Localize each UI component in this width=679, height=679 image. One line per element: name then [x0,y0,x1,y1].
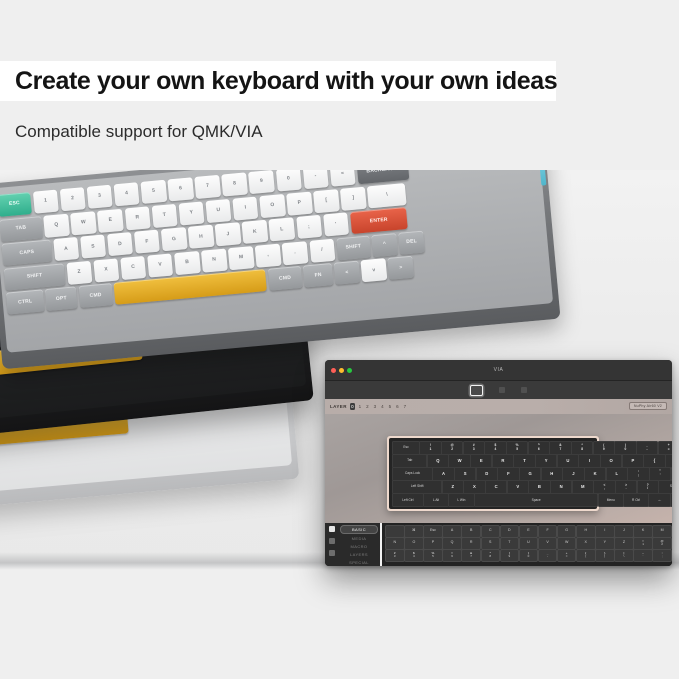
keycap: [ [313,189,339,213]
keycap: T [151,203,177,227]
keycode-key[interactable] [385,525,405,538]
minimize-button[interactable] [339,368,344,373]
keymap-key[interactable]: += [658,441,673,455]
keycode-key[interactable]: P [423,537,443,550]
keycodes-icon[interactable] [329,526,335,532]
keycap: < [334,261,360,285]
keycode-key[interactable]: K [633,525,653,538]
panel-rail-icons[interactable] [325,523,338,566]
keymap-key[interactable]: L Alt [423,493,449,507]
keycode-key[interactable]: Esc [423,525,443,538]
keycap: M [228,246,254,270]
keymap-key[interactable]: Enter [671,467,672,481]
keyboard-icon[interactable] [470,385,483,396]
keycap: 7 [194,175,220,199]
macro-icon[interactable] [329,538,335,544]
keyboard-model-badge: NuPhy Air60 V2 [629,402,667,410]
keycode-picker-grid[interactable]: ⌘EscABCDEFGHIJKMNOPQRSTUVWXYZ!1@2#3$4%5^… [380,523,672,566]
keymap-key[interactable]: !1 [419,441,441,455]
layer-selector-bar[interactable]: LAYER 01234567 NuPhy Air60 V2 [325,399,672,414]
keycap: 9 [248,170,274,194]
keycode-key[interactable]: %5 [423,549,443,562]
keycap: S [80,235,106,259]
keycap: U [205,199,231,223]
keycode-key[interactable]: O [404,537,424,550]
keycode-key[interactable]: E [519,525,539,538]
keycap: = [329,170,355,187]
window-titlebar: VIA [325,360,672,381]
keymap-key[interactable]: M [572,480,594,494]
keymap-key[interactable]: :; [627,467,649,481]
keycode-key[interactable]: |\ [614,549,634,562]
keymap-key[interactable]: <, [593,480,615,494]
keycap: \ [367,183,407,208]
keymap-key[interactable]: Left Shift [392,480,442,494]
layer-button-7[interactable]: 7 [402,404,407,409]
page-title: Create your own keyboard with your own i… [15,63,560,99]
keycode-key[interactable]: W [557,537,577,550]
keymap-key[interactable]: W [448,454,470,468]
keymap-key[interactable]: O [600,454,622,468]
keycap: 1 [33,190,59,214]
keycap: B [174,251,200,275]
keymap-key[interactable]: )0 [614,441,636,455]
keycap: CMD [78,283,113,308]
keymap-key[interactable]: &7 [549,441,571,455]
keycap: N [201,248,227,272]
keycap: ; [296,215,322,239]
keycode-key[interactable]: _- [538,549,558,562]
keycap: F [134,230,160,254]
keymap-key[interactable]: S [454,467,476,481]
keymap-key[interactable]: L Win [448,493,474,507]
keycode-category-macro[interactable]: MACRO [341,543,377,550]
screenshot-root: Create your own keyboard with your own i… [0,0,679,679]
keymap-key[interactable]: ^6 [528,441,550,455]
keycap: O [259,194,285,218]
keymap-key[interactable]: %5 [506,441,528,455]
keymap-key[interactable]: Left Ctrl [392,493,424,507]
keymap-key[interactable]: ↓ [670,493,672,507]
keymap-key[interactable]: K [584,467,606,481]
keymap-key[interactable]: R Ctrl [623,493,649,507]
keymap-key[interactable]: E [470,454,492,468]
keycap: / [309,239,335,263]
keycap: - [302,170,328,189]
layer-button-3[interactable]: 3 [372,404,377,409]
keymap-key[interactable]: } [665,454,672,468]
window-title: VIA [325,367,672,373]
keycode-key[interactable]: #3 [385,549,405,562]
keymap-key[interactable]: #3 [463,441,485,455]
keycode-key[interactable]: T [500,537,520,550]
via-toolbar[interactable] [325,381,672,399]
keymap-key[interactable]: J [562,467,584,481]
keycode-key[interactable]: }] [595,549,615,562]
keymap-key[interactable]: H [541,467,563,481]
keycode-key[interactable]: N [385,537,405,550]
keycap: J [215,222,241,246]
page-subtitle: Compatible support for QMK/VIA [15,120,263,144]
via-app-window[interactable]: VIA LAYER 01234567 NuPhy Air60 V2 Esc!1@… [325,360,672,566]
keycode-key[interactable]: $4 [404,549,424,562]
keycap: W [70,211,96,235]
keycode-key[interactable]: M [652,525,672,538]
keymap-key[interactable]: Tab [392,454,427,468]
keymap-key[interactable]: ← [648,493,670,507]
keymap-key[interactable]: F [497,467,519,481]
keycode-key[interactable]: G [557,525,577,538]
keymap-key[interactable]: Q [427,454,449,468]
keymap-key[interactable]: L [606,467,628,481]
layer-button-4[interactable]: 4 [380,404,385,409]
keycap: ] [340,186,366,210]
layer-label: LAYER [330,404,347,409]
keycap: . [282,241,308,265]
keycode-key[interactable]: F [538,525,558,538]
keycode-category-layers[interactable]: LAYERS [341,551,377,558]
keycap: 2 [60,187,86,211]
keymap-key[interactable]: { [643,454,665,468]
keycap: 3 [87,185,113,209]
keycode-key[interactable]: D [500,525,520,538]
keymap-key[interactable]: A [432,467,454,481]
zoom-button[interactable] [347,368,352,373]
keycap: FN [303,263,333,287]
keycode-category-media[interactable]: MEDIA [341,535,377,542]
keycap: L [269,217,295,241]
keycode-key[interactable]: *8 [481,549,501,562]
keycap: 0 [275,170,301,192]
keycap: A [53,237,79,261]
keymap-key[interactable]: B [528,480,550,494]
keymap-key[interactable]: D [476,467,498,481]
keycap: P [286,191,312,215]
keycap: I [232,196,258,220]
keycap: CAPS [2,240,53,266]
top-light-keyboard: ESC1234567890-=BACKSPACETABQWERTYUIOP[]\… [0,170,561,369]
keycode-key[interactable]: V [538,537,558,550]
keycode-key[interactable]: Q [442,537,462,550]
keymap-key[interactable]: Shift [658,480,672,494]
keymap-key[interactable]: ?/ [637,480,659,494]
layer-buttons[interactable]: 01234567 [350,403,408,410]
keycap: X [93,258,119,282]
keymap-key[interactable]: G [519,467,541,481]
keycode-category-list[interactable]: BASICMEDIAMACROLAYERSSPECIALLIGHTING [338,523,380,566]
keymap-key[interactable]: Esc [392,441,420,455]
layer-button-1[interactable]: 1 [357,404,362,409]
keymap-key[interactable]: *8 [571,441,593,455]
keycap: 8 [221,172,247,196]
settings-icon[interactable] [521,387,527,393]
close-button[interactable] [331,368,336,373]
keycode-key[interactable]: !1 [633,537,653,550]
keymap-key[interactable]: Space [474,493,599,507]
keycap: TAB [0,216,43,242]
keycode-key[interactable]: I [595,525,615,538]
keycap: 5 [141,180,167,204]
keymap-canvas: Esc!1@2#3$4%5^6&7*8(9)0_-+=BackspaceTabQ… [325,414,672,524]
traffic-lights[interactable] [331,368,352,373]
keycap: E [97,208,123,232]
keycode-category-special[interactable]: SPECIAL [341,559,377,566]
keycap: SHIFT [336,235,371,260]
keymap-key[interactable]: X [463,480,485,494]
keycap: R [124,206,150,230]
keycap: ' [323,213,349,237]
keycap: > [388,256,414,280]
layer-button-6[interactable]: 6 [395,404,400,409]
keycap: v [361,259,387,283]
layer-button-0[interactable]: 0 [350,403,355,410]
keymap-key[interactable]: Y [535,454,557,468]
keycode-key[interactable]: += [557,549,577,562]
keymap-key[interactable]: @2 [441,441,463,455]
keymap-key[interactable]: (9 [593,441,615,455]
keycap: Y [178,201,204,225]
keymap-key[interactable]: Menu [598,493,624,507]
layer-button-5[interactable]: 5 [387,404,392,409]
keymap-key[interactable]: T [513,454,535,468]
keymap-key[interactable]: Z [442,480,464,494]
keymap-key[interactable]: _- [636,441,658,455]
keymap-key[interactable]: >. [615,480,637,494]
keymap-key[interactable]: U [557,454,579,468]
keycode-key[interactable]: Z [614,537,634,550]
keycap: Z [66,261,92,285]
keymap-key[interactable]: $4 [484,441,506,455]
keycap: CMD [268,266,303,291]
keycode-key[interactable]: J [614,525,634,538]
keycode-key[interactable]: ^6 [442,549,462,562]
keycap: 4 [114,182,140,206]
keymap-key[interactable]: "' [649,467,671,481]
keycap: OPT [45,287,77,312]
keycap: 6 [168,177,194,201]
keycap: , [255,243,281,267]
keycode-key[interactable]: B [461,525,481,538]
keycap: Q [43,213,69,237]
keymap-key[interactable]: P [622,454,644,468]
keycode-key[interactable]: Y [595,537,615,550]
keycap: D [107,232,133,256]
keycap: K [242,220,268,244]
keycode-key[interactable]: :; [652,549,672,562]
keymap-key[interactable]: C [485,480,507,494]
keycode-key[interactable]: S [481,537,501,550]
layout-icon[interactable] [499,387,505,393]
keycode-key[interactable]: &7 [461,549,481,562]
keymap-keyboard[interactable]: Esc!1@2#3$4%5^6&7*8(9)0_-+=BackspaceTabQ… [387,436,599,511]
keycap: DEL [398,230,424,254]
keymap-key[interactable]: N [550,480,572,494]
layer-button-2[interactable]: 2 [365,404,370,409]
keycap: CTRL [6,290,45,315]
keycode-key[interactable]: )0 [519,549,539,562]
keycap: ^ [372,233,398,257]
keycap: ESC [0,192,32,217]
keycode-key[interactable]: ⌘ [404,525,424,538]
keycap: H [188,225,214,249]
lighting-icon[interactable] [329,550,335,556]
keycode-key[interactable]: A [442,525,462,538]
keycap: C [120,256,146,280]
keycode-key[interactable]: ~` [633,549,653,562]
keycap: G [161,227,187,251]
keycode-key[interactable]: U [519,537,539,550]
keycap: V [147,253,173,277]
keycode-key[interactable]: X [576,537,596,550]
keycode-category-basic[interactable]: BASIC [340,525,378,534]
keymap-key[interactable]: Caps Lock [392,467,433,481]
keycode-key[interactable]: C [481,525,501,538]
keymap-key[interactable]: V [507,480,529,494]
keycode-panel: BASICMEDIAMACROLAYERSSPECIALLIGHTING ⌘Es… [325,523,672,566]
keymap-key[interactable]: R [492,454,514,468]
keycode-key[interactable]: @2 [652,537,672,550]
keycode-key[interactable]: {[ [576,549,596,562]
keycode-key[interactable]: R [461,537,481,550]
keymap-key[interactable]: I [578,454,600,468]
keycode-key[interactable]: H [576,525,596,538]
keycode-key[interactable]: (9 [500,549,520,562]
